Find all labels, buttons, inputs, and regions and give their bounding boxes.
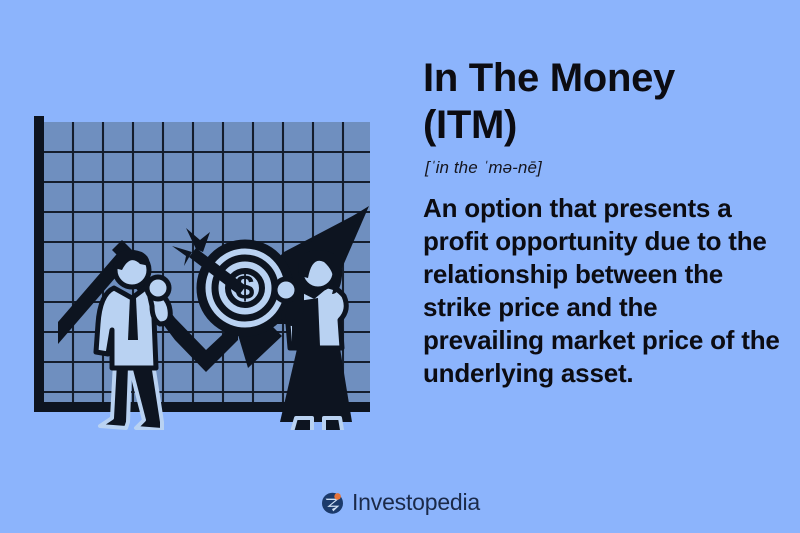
illustration: $ [0, 100, 400, 430]
investopedia-logo-icon [320, 490, 345, 515]
person-left-phone-hand [147, 277, 169, 299]
pronunciation-text: [ˈin the ˈmə-nē] [425, 158, 783, 178]
chart-axis-left [34, 116, 44, 412]
person-right-phone-hand [275, 279, 297, 301]
brand-name: Investopedia [352, 490, 480, 515]
page-title: In The Money (ITM) [423, 55, 783, 149]
infographic-card: $ [0, 0, 800, 533]
brand-footer: Investopedia [0, 490, 800, 515]
definition-text: An option that presents a profit opportu… [423, 192, 783, 390]
definition-panel: In The Money (ITM) [ˈin the ˈmə-nē] An o… [423, 55, 783, 390]
